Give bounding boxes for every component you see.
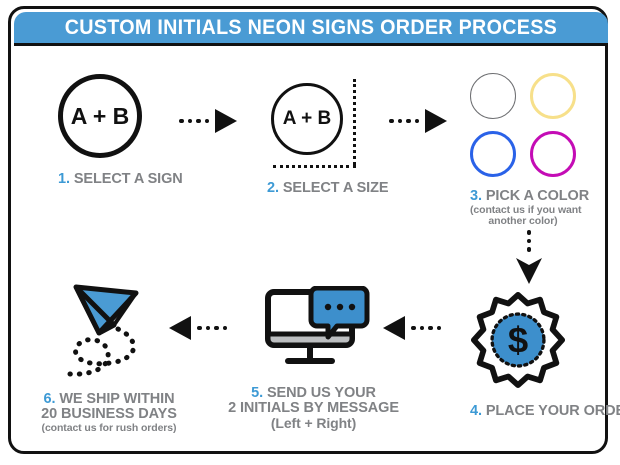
step-1-caption: 1. SELECT A SIGN — [58, 172, 142, 187]
arrow-dot — [205, 119, 210, 124]
step-2-caption: 2. SELECT A SIZE — [267, 181, 367, 196]
step-4: $ 4. PLACE YOUR ORDER — [470, 292, 566, 419]
sign-initials-text: A + B — [283, 108, 331, 130]
step-2-label: SELECT A SIZE — [283, 180, 389, 196]
color-swatches-icon — [470, 73, 576, 177]
step-3-label: PICK A COLOR — [486, 188, 589, 204]
arrow-3-to-4-icon — [516, 230, 542, 284]
step-6-label-line1: WE SHIP WITHIN — [59, 391, 174, 407]
step-5-label-line2: 2 INITIALS BY MESSAGE — [226, 401, 401, 416]
step-5-label-line1: SEND US YOUR — [267, 385, 376, 401]
dollar-badge-icon: $ — [470, 292, 566, 388]
step-2: A + B 2. SELECT A SIZE — [267, 79, 367, 196]
color-ring-magenta[interactable] — [530, 131, 576, 177]
color-ring-white[interactable] — [470, 73, 516, 119]
step-4-number: 4. — [470, 403, 482, 419]
step-3-caption: 3. PICK A COLOR (contact us if you want … — [470, 189, 576, 228]
step-6-caption: 6. WE SHIP WITHIN 20 BUSINESS DAYS (cont… — [29, 392, 189, 434]
arrow-dot — [179, 119, 184, 124]
step-5-number: 5. — [251, 385, 263, 401]
step-5: 5. SEND US YOUR 2 INITIALS BY MESSAGE (L… — [226, 286, 401, 431]
arrow-2-to-3-icon — [389, 109, 447, 133]
arrow-dot — [188, 119, 193, 124]
header-bar: CUSTOM INITIALS NEON SIGNS ORDER PROCESS — [14, 12, 608, 46]
step-5-line1: 5. SEND US YOUR — [226, 386, 401, 401]
step-2-number: 2. — [267, 180, 279, 196]
arrow-dot — [196, 119, 201, 124]
arrow-dot — [437, 326, 442, 331]
arrow-dot — [411, 326, 416, 331]
step-3: 3. PICK A COLOR (contact us if you want … — [470, 73, 576, 228]
arrow-dot — [527, 230, 532, 235]
monitor-chat-icon — [254, 286, 374, 370]
arrow-dot — [420, 326, 425, 331]
arrow-dot — [406, 119, 411, 124]
page-title: CUSTOM INITIALS NEON SIGNS ORDER PROCESS — [65, 16, 557, 40]
step-4-caption: 4. PLACE YOUR ORDER — [470, 404, 566, 419]
step-5-caption: 5. SEND US YOUR 2 INITIALS BY MESSAGE (L… — [226, 386, 401, 431]
arrow-dot — [206, 326, 211, 331]
svg-text:$: $ — [508, 320, 528, 361]
step-6: 6. WE SHIP WITHIN 20 BUSINESS DAYS (cont… — [29, 277, 189, 434]
arrow-head — [425, 109, 447, 133]
measure-guide-vertical — [353, 79, 356, 165]
arrow-dot — [428, 326, 433, 331]
color-ring-yellow[interactable] — [530, 73, 576, 119]
arrow-dot — [389, 119, 394, 124]
circle-sign-measure-icon: A + B — [271, 83, 343, 155]
step-1: A + B 1. SELECT A SIGN — [58, 74, 142, 187]
arrow-dot — [398, 119, 403, 124]
step-1-number: 1. — [58, 171, 70, 187]
arrow-dot — [527, 239, 532, 244]
step-6-line1: 6. WE SHIP WITHIN — [29, 392, 189, 407]
arrow-dot — [214, 326, 219, 331]
step-6-sublabel: (contact us for rush orders) — [29, 423, 189, 434]
arrow-dot — [223, 326, 228, 331]
step-3-number: 3. — [470, 188, 482, 204]
circle-sign-icon: A + B — [58, 74, 142, 158]
step-4-label: PLACE YOUR ORDER — [486, 403, 620, 419]
arrow-1-to-2-icon — [179, 109, 237, 133]
sign-initials-text: A + B — [71, 103, 130, 130]
step-5-sublabel: (Left + Right) — [226, 416, 401, 431]
arrow-dot — [527, 247, 532, 252]
arrow-head — [516, 256, 542, 284]
step-6-number: 6. — [44, 391, 56, 407]
arrow-dot — [415, 119, 420, 124]
color-ring-blue[interactable] — [470, 131, 516, 177]
arrow-dot — [197, 326, 202, 331]
arrow-head — [215, 109, 237, 133]
infographic-card: CUSTOM INITIALS NEON SIGNS ORDER PROCESS… — [8, 6, 608, 454]
step-1-label: SELECT A SIGN — [74, 171, 183, 187]
paper-plane-icon — [44, 277, 174, 382]
step-6-label-line2: 20 BUSINESS DAYS — [29, 407, 189, 422]
measure-guide-horizontal — [273, 165, 356, 168]
step-3-sublabel-line2: another color) — [470, 216, 576, 227]
